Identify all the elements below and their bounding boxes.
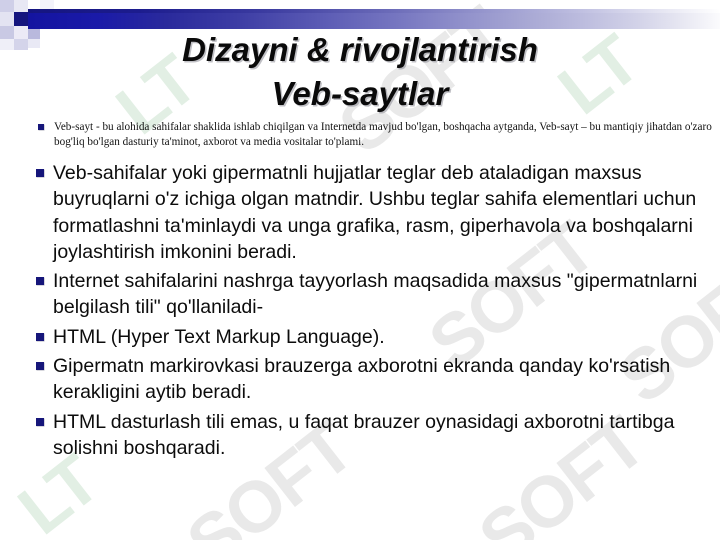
bullet-item: Gipermatn markirovkasi brauzerga axborot… <box>36 353 714 406</box>
decor-square <box>14 26 28 39</box>
bullet-marker-icon <box>36 362 44 370</box>
bullet-marker-icon <box>36 277 44 285</box>
decor-square <box>14 39 28 50</box>
slide-body: Veb-sayt - bu alohida sahifalar shaklida… <box>36 120 714 464</box>
slide-title: Dizayni & rivojlantirish Veb-saytlar <box>60 28 660 116</box>
slide-title-line-1: Dizayni & rivojlantirish <box>60 28 660 72</box>
decor-square <box>14 12 28 26</box>
decor-square <box>0 26 14 39</box>
decor-square <box>0 39 14 50</box>
decor-square <box>0 0 14 12</box>
bullet-marker-icon <box>36 169 44 177</box>
bullet-marker-icon <box>36 418 44 426</box>
bullet-text: Gipermatn markirovkasi brauzerga axborot… <box>53 353 714 406</box>
bullet-item: HTML dasturlash tili emas, u faqat brauz… <box>36 409 714 462</box>
slide-title-line-2: Veb-saytlar <box>60 72 660 116</box>
decor-square <box>0 12 14 26</box>
bullet-item: Veb-sayt - bu alohida sahifalar shaklida… <box>36 120 714 151</box>
decor-square <box>28 39 40 48</box>
bullet-text: Veb-sayt - bu alohida sahifalar shaklida… <box>54 120 714 151</box>
bullet-item: Internet sahifalarini nashrga tayyorlash… <box>36 268 714 321</box>
bullet-text: Internet sahifalarini nashrga tayyorlash… <box>53 268 714 321</box>
header-bar-body <box>28 13 720 29</box>
bullet-item: HTML (Hyper Text Markup Language). <box>36 324 714 350</box>
presentation-slide: LT SOFT LT SOFT SOFT LT SOFT SOFT Dizayn… <box>0 0 720 540</box>
bullet-marker-icon <box>36 333 44 341</box>
bullet-text: Veb-sahifalar yoki gipermatnli hujjatlar… <box>53 160 714 265</box>
bullet-item: Veb-sahifalar yoki gipermatnli hujjatlar… <box>36 160 714 265</box>
bullet-text: HTML dasturlash tili emas, u faqat brauz… <box>53 409 714 462</box>
bullet-text: HTML (Hyper Text Markup Language). <box>53 324 714 350</box>
header-gradient-bar <box>28 9 720 29</box>
decor-square <box>14 0 28 12</box>
bullet-marker-icon <box>38 124 44 130</box>
